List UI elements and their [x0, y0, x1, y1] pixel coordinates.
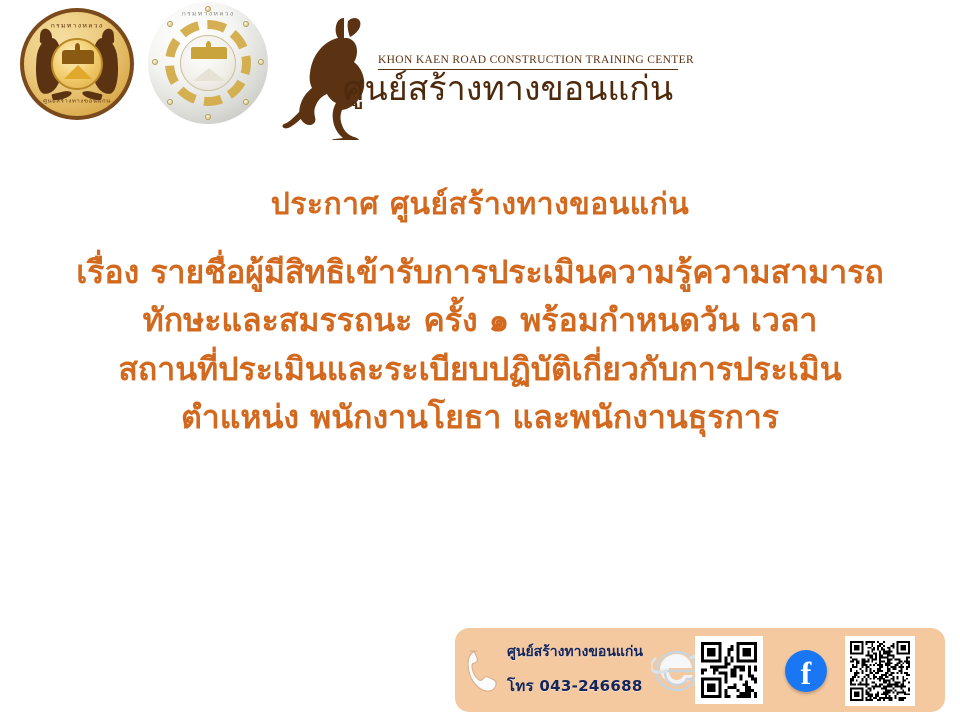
header-logo-band: กรมทางหลวง ศูนย์สร้างทางขอนแก่น กรมทางหล… [0, 0, 960, 150]
seal-stud [205, 114, 211, 120]
chevron-emblem [64, 65, 92, 79]
seal-stud [243, 99, 249, 105]
seal-stud [167, 99, 173, 105]
facebook-icon[interactable]: f [785, 650, 827, 692]
announcement-line: ทักษะและสมรรถนะ ครั้ง ๑ พร้อมกำหนดวัน เว… [0, 296, 960, 345]
center-wordmark: KHON KAEN ROAD CONSTRUCTION TRAINING CEN… [378, 54, 678, 108]
announcement-line: ตำแหน่ง พนักงานโยธา และพนักงานธุรการ [0, 393, 960, 442]
seal-stud [152, 59, 158, 65]
chevron-emblem [193, 68, 225, 81]
facebook-letter: f [785, 654, 827, 692]
gold-seal-top-text: กรมทางหลวง [24, 22, 130, 31]
department-of-highways-silver-seal: กรมทางหลวง [148, 2, 268, 124]
seal-stud [167, 21, 173, 27]
contact-bar: ศูนย์สร้างทางขอนแก่น โทร 043-246688 f [455, 628, 945, 712]
announcement-body: เรื่อง รายชื่อผู้มีสิทธิเข้ารับการประเมิ… [0, 248, 960, 443]
gold-seal-medallion [51, 38, 103, 90]
temple-emblem [191, 47, 227, 59]
seal-stud [258, 59, 264, 65]
gold-seal-bottom-text: ศูนย์สร้างทางขอนแก่น [24, 97, 130, 105]
announcement-title: ประกาศ ศูนย์สร้างทางขอนแก่น [0, 186, 960, 224]
qr-code-line[interactable] [845, 636, 915, 706]
telephone-icon [465, 648, 507, 694]
temple-emblem [62, 50, 94, 64]
announcement-block: ประกาศ ศูนย์สร้างทางขอนแก่น เรื่อง รายชื… [0, 186, 960, 442]
announcement-line: สถานที่ประเมินและระเบียบปฏิบัติเกี่ยวกับ… [0, 345, 960, 394]
wordmark-english: KHON KAEN ROAD CONSTRUCTION TRAINING CEN… [378, 54, 678, 66]
qr-code-website[interactable] [695, 636, 763, 704]
wordmark-thai: ศูนย์สร้างทางขอนแก่น [338, 72, 678, 108]
seal-stud [243, 21, 249, 27]
seal-stud [205, 6, 211, 12]
announcement-line: เรื่อง รายชื่อผู้มีสิทธิเข้ารับการประเมิ… [0, 248, 960, 297]
silver-seal-inner-disc [180, 35, 236, 91]
department-of-highways-gold-seal: กรมทางหลวง ศูนย์สร้างทางขอนแก่น [20, 8, 134, 120]
